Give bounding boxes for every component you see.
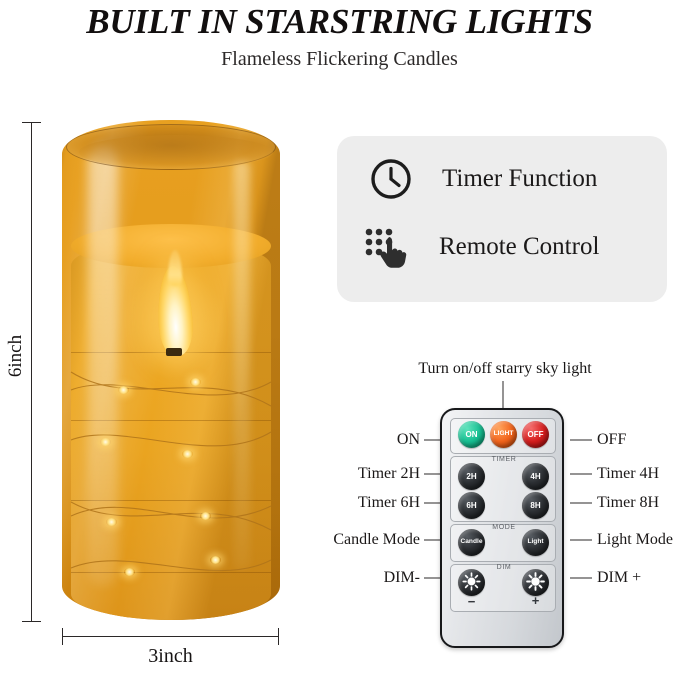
remote-button-timer-6h[interactable]: 6H: [458, 492, 485, 519]
dim-plus-symbol: +: [522, 593, 549, 608]
feature-label-timer: Timer Function: [442, 165, 597, 193]
candle-wick: [166, 348, 182, 356]
remote-button-timer-8h-label: 8H: [530, 502, 540, 510]
remote-section-label-mode: MODE: [442, 524, 566, 531]
remote-button-on[interactable]: ON: [458, 421, 485, 448]
remote-button-on-label: ON: [466, 431, 478, 439]
callout-right-timer-8h: Timer 8H: [597, 494, 659, 512]
height-dimension-tick-bottom: [22, 621, 41, 622]
remote-button-timer-4h-label: 4H: [530, 473, 540, 481]
remote-button-off-label: OFF: [528, 431, 544, 439]
dim-minus-symbol: −: [458, 594, 485, 609]
feature-item-remote: Remote Control: [361, 224, 599, 270]
width-dimension-tick-right: [278, 628, 279, 645]
remote-section-label-dim: DIM: [442, 564, 566, 571]
feature-label-remote: Remote Control: [439, 233, 599, 261]
callout-right-timer-4h: Timer 4H: [597, 465, 659, 483]
callout-left-timer-2h: Timer 2H: [358, 465, 420, 483]
callout-left-timer-6h: Timer 6H: [358, 494, 420, 512]
remote-button-light-mode[interactable]: Light: [522, 529, 549, 556]
remote-hand-icon: [361, 224, 407, 270]
remote-button-dim-down[interactable]: [458, 569, 485, 596]
page-title: BUILT IN STARSTRING LIGHTS: [0, 2, 679, 42]
remote-button-timer-8h[interactable]: 8H: [522, 492, 549, 519]
width-dimension-line: [62, 636, 279, 637]
infographic-canvas: BUILT IN STARSTRING LIGHTS Flameless Fli…: [0, 0, 679, 675]
width-dimension-label: 3inch: [62, 645, 279, 668]
feature-card: Timer Function: [337, 136, 667, 302]
candle-glass-rim: [66, 124, 276, 170]
remote-section-label-timer: TIMER: [442, 456, 566, 463]
page-subtitle: Flameless Flickering Candles: [0, 48, 679, 71]
remote-button-timer-2h-label: 2H: [466, 473, 476, 481]
clock-icon: [368, 156, 414, 202]
width-dimension-tick-left: [62, 628, 63, 645]
brightness-down-icon: [462, 572, 481, 593]
callout-left-candle-mode: Candle Mode: [333, 531, 420, 549]
callout-right-off: OFF: [597, 431, 626, 449]
callout-left-dim-minus: DIM-: [384, 569, 420, 587]
height-dimension-line: [31, 122, 32, 622]
candle-product-image: [62, 120, 280, 620]
remote-button-light[interactable]: LIGHT: [490, 421, 517, 448]
height-dimension-label: 6inch: [5, 326, 27, 386]
remote-control: TIMER MODE DIM ON LIGHT OFF 2H 4H 6H 8H …: [440, 408, 564, 648]
remote-button-dim-up[interactable]: [522, 569, 549, 596]
remote-button-light-mode-label: Light: [527, 539, 543, 546]
callout-right-dim-plus: DIM +: [597, 569, 641, 587]
remote-button-candle-mode-label: Candle: [461, 539, 483, 546]
remote-button-candle-mode[interactable]: Candle: [458, 529, 485, 556]
height-dimension-tick-top: [22, 122, 41, 123]
candle-glass-body: [62, 120, 280, 620]
remote-button-light-label: LIGHT: [494, 431, 514, 438]
remote-button-timer-2h[interactable]: 2H: [458, 463, 485, 490]
callout-left-on: ON: [397, 431, 420, 449]
callout-right-light-mode: Light Mode: [597, 531, 673, 549]
remote-button-off[interactable]: OFF: [522, 421, 549, 448]
brightness-up-icon: [526, 572, 545, 593]
feature-item-timer: Timer Function: [368, 156, 597, 202]
remote-caption: Turn on/off starry sky light: [340, 360, 670, 378]
remote-button-timer-4h[interactable]: 4H: [522, 463, 549, 490]
remote-button-timer-6h-label: 6H: [466, 502, 476, 510]
